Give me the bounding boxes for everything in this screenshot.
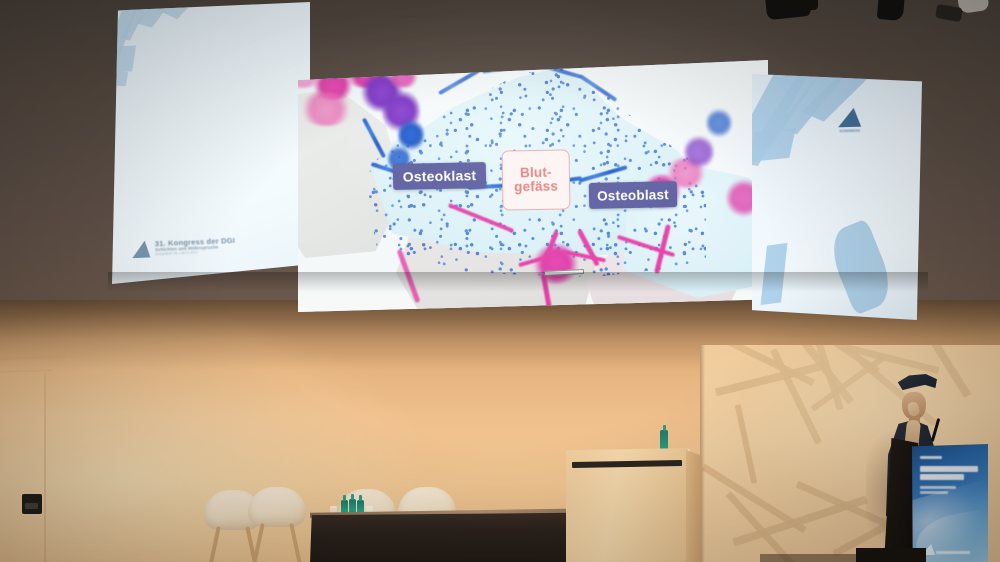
banner-logo-caption xyxy=(936,551,970,554)
door-frame-side xyxy=(44,372,46,562)
banner-eyebrow-text xyxy=(920,456,942,459)
banner-subtitle-line1 xyxy=(920,486,956,489)
lectern-banner xyxy=(912,444,988,562)
chair-seatback xyxy=(248,487,306,527)
foreground-dark-block xyxy=(856,548,926,562)
ceiling-rig-icon xyxy=(800,0,818,10)
wall-socket xyxy=(22,494,42,514)
banner-subtitle-line2 xyxy=(920,491,948,494)
ceiling-dark-area xyxy=(0,0,1000,306)
conference-photo-scene: 31. Kongress der DGI Schichten und Wider… xyxy=(0,0,1000,562)
backdrop-line xyxy=(735,404,758,483)
stage-bottle xyxy=(660,430,668,450)
stage-panel-side xyxy=(686,450,702,562)
banner-title-line1 xyxy=(920,466,978,472)
banner-title-line2 xyxy=(920,474,964,480)
